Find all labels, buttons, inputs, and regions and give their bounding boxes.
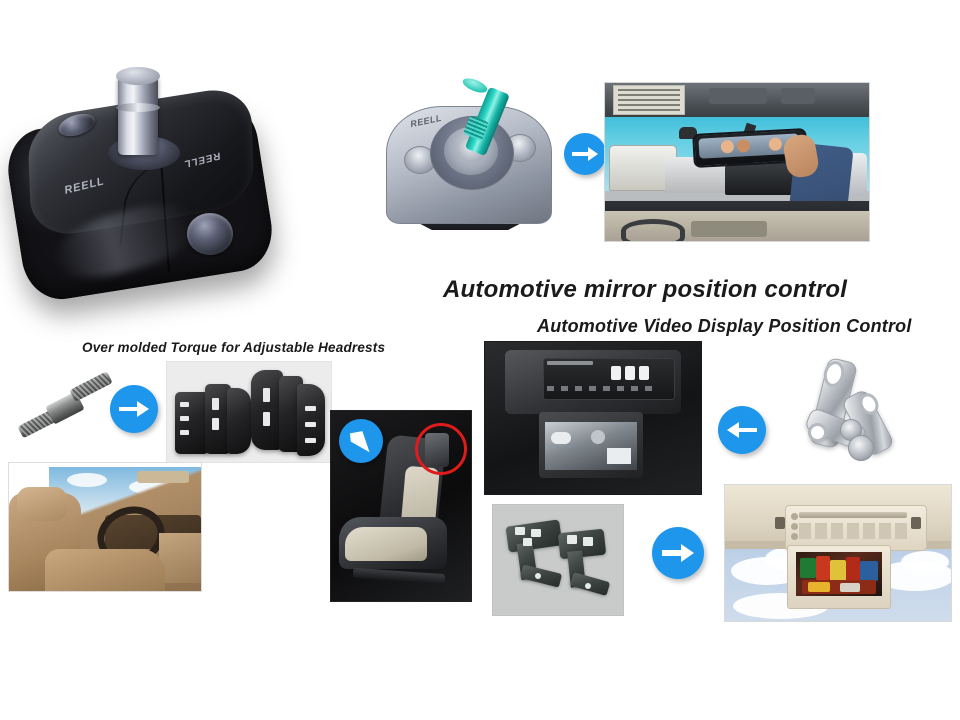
seat-cutaway-photo: [330, 410, 472, 602]
cad-flange-model: REELL: [378, 72, 558, 242]
bracket-hole: [531, 529, 541, 537]
headrest-mechanisms-photo: [166, 361, 332, 463]
steering-wheel: [621, 219, 685, 242]
headrest-shaft-part: [14, 372, 118, 444]
bracket-fastener-hole: [535, 573, 541, 579]
ratchet-slot: [263, 412, 270, 426]
bracket-fastener-hole: [585, 583, 591, 589]
bracket-hole: [567, 535, 577, 544]
overhead-console-photo: [484, 341, 702, 495]
l-bracket-parts: [492, 504, 624, 616]
bracket-hole: [515, 527, 525, 535]
disc-slot: [799, 512, 907, 518]
shaft-cap: [116, 67, 160, 85]
ratchet-slot: [180, 430, 189, 435]
center-vents: [691, 221, 767, 237]
display-digit: [611, 366, 621, 380]
dome-lamp-right: [911, 517, 921, 529]
flip-down-screen-housing: [539, 412, 643, 478]
ratchet-slot: [212, 398, 219, 410]
red-highlight-circle: [415, 423, 467, 475]
car-interior-photo: [8, 462, 202, 592]
ratchet-slot: [305, 406, 316, 411]
metal-hinge-part: [800, 355, 940, 475]
front-seat: [45, 549, 165, 591]
ratchet-slot: [305, 422, 316, 427]
headrest-mech-b3: [297, 384, 325, 456]
ratchet-slot: [212, 418, 219, 430]
display-digit: [625, 366, 635, 380]
control-knob: [791, 523, 798, 530]
reflected-face-2: [737, 139, 751, 153]
ratchet-slot: [305, 438, 316, 443]
arrow-right-icon: [564, 133, 606, 175]
shaft-knurl-texture-upper: [71, 372, 111, 401]
torque-shaft: [118, 75, 158, 155]
control-knob: [791, 513, 798, 520]
flip-down-screen-housing: [787, 545, 891, 609]
ratchet-slot: [263, 388, 270, 402]
cad-shaft-cap: [461, 76, 489, 96]
reflected-face-3: [769, 137, 783, 151]
hinge-torque-element: [848, 435, 874, 461]
sun-visor: [613, 85, 685, 115]
caption-mirror-position-control: Automotive mirror position control: [443, 276, 847, 304]
dome-lamp-left: [775, 517, 785, 529]
control-buttons: [547, 386, 657, 391]
display-digit: [639, 366, 649, 380]
center-console: [159, 533, 201, 583]
arrow-left-icon: [718, 406, 766, 454]
headrest-mech-a3: [227, 388, 251, 454]
video-screen: [796, 552, 882, 596]
rearview-mirror-photo: [604, 82, 870, 242]
sunroof-switch-panel: [781, 88, 815, 104]
headrest: [17, 487, 67, 521]
bracket-hole: [523, 538, 532, 546]
caption-video-display-position-control: Automotive Video Display Position Contro…: [537, 316, 912, 337]
seat-rail: [353, 568, 445, 584]
cloud: [901, 551, 949, 573]
brand-mark: [547, 361, 593, 365]
arrow-right-icon: [110, 385, 158, 433]
control-knob: [791, 533, 798, 540]
reflected-face-1: [721, 140, 735, 154]
bracket-hole: [583, 537, 593, 546]
seat-foam-cutaway: [345, 527, 427, 561]
arrow-down-right-icon: [339, 419, 383, 463]
control-keypad: [799, 523, 907, 539]
hinge-eyelet-lower: [808, 423, 827, 442]
slide-canvas: REELL REELL REELL: [0, 0, 960, 720]
arrow-right-icon: [652, 527, 704, 579]
ratchet-slot: [180, 416, 189, 421]
overmolded-hinge-render: REELL REELL: [8, 62, 276, 302]
overhead-monitor-photo: [724, 484, 952, 622]
sun-visor: [137, 471, 189, 483]
video-screen: [545, 422, 637, 470]
bracket-left-foot: [520, 564, 562, 587]
ratchet-slot: [180, 402, 189, 407]
caption-overmolded-torque-headrests: Over molded Torque for Adjustable Headre…: [82, 340, 385, 355]
dome-light-panel: [709, 88, 767, 104]
shaft-ring: [116, 103, 160, 112]
